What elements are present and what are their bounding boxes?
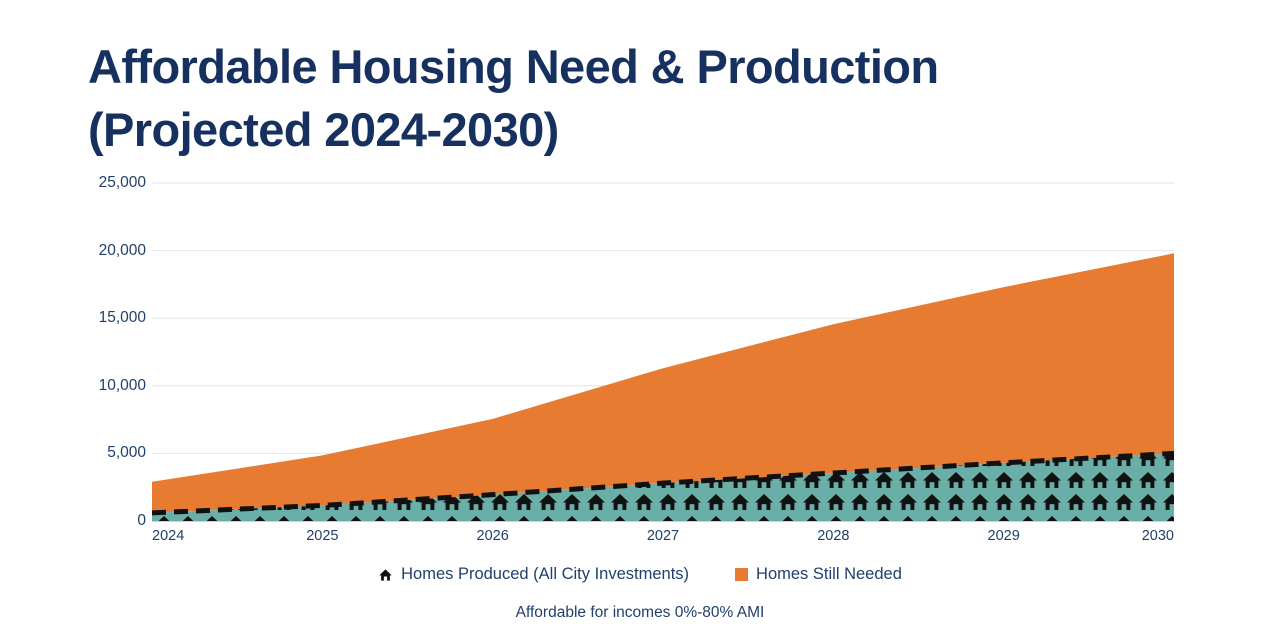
y-tick-label: 10,000 xyxy=(76,377,146,395)
plot-area xyxy=(152,183,1174,521)
y-tick-label: 25,000 xyxy=(76,174,146,192)
x-tick-label: 2028 xyxy=(817,528,849,544)
area-chart-svg xyxy=(152,183,1174,521)
x-tick-label: 2029 xyxy=(988,528,1020,544)
x-axis-line xyxy=(152,521,1174,522)
legend-label-homes-produced: Homes Produced (All City Investments) xyxy=(401,565,689,584)
y-axis: 05,00010,00015,00020,00025,000 xyxy=(72,183,146,521)
series-layer xyxy=(152,253,1174,521)
legend: Homes Produced (All City Investments) Ho… xyxy=(0,565,1280,584)
x-tick-label: 2030 xyxy=(1142,528,1174,544)
legend-label-homes-still-needed: Homes Still Needed xyxy=(756,565,902,584)
x-axis: 2024202520262027202820292030 xyxy=(152,528,1174,552)
x-tick-label: 2027 xyxy=(647,528,679,544)
legend-item-homes-produced[interactable]: Homes Produced (All City Investments) xyxy=(378,565,689,584)
y-tick-label: 5,000 xyxy=(76,444,146,462)
legend-item-homes-still-needed[interactable]: Homes Still Needed xyxy=(735,565,902,584)
y-tick-label: 15,000 xyxy=(76,309,146,327)
x-tick-label: 2024 xyxy=(152,528,184,544)
square-swatch xyxy=(735,568,748,581)
x-tick-label: 2025 xyxy=(306,528,338,544)
chart-page: Affordable Housing Need & Production (Pr… xyxy=(0,0,1280,626)
x-tick-label: 2026 xyxy=(477,528,509,544)
y-tick-label: 20,000 xyxy=(76,242,146,260)
house-icon xyxy=(378,568,393,582)
page-title: Affordable Housing Need & Production (Pr… xyxy=(88,36,1088,161)
footnote: Affordable for incomes 0%-80% AMI xyxy=(0,604,1280,622)
y-tick-label: 0 xyxy=(76,512,146,530)
